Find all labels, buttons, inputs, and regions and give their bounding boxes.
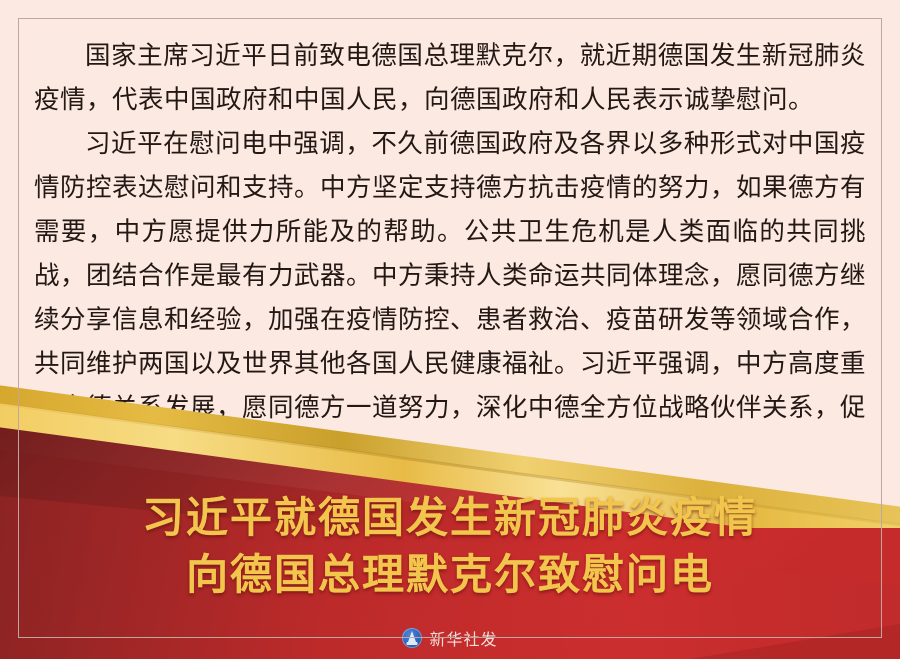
article-paragraph-1: 国家主席习近平日前致电德国总理默克尔，就近期德国发生新冠肺炎疫情，代表中国政府和… xyxy=(34,34,866,122)
article-region: 国家主席习近平日前致电德国总理默克尔，就近期德国发生新冠肺炎疫情，代表中国政府和… xyxy=(0,0,900,400)
xinhua-agency-logo-icon xyxy=(402,628,422,648)
credit-block: 新华社发 xyxy=(0,626,900,650)
headline-line-2: 向德国总理默克尔致慰问电 xyxy=(0,546,900,603)
headline-line-1: 习近平就德国发生新冠肺炎疫情 xyxy=(0,489,900,546)
news-poster: 国家主席习近平日前致电德国总理默克尔，就近期德国发生新冠肺炎疫情，代表中国政府和… xyxy=(0,0,900,659)
credit-text: 新华社发 xyxy=(429,626,497,650)
headline: 习近平就德国发生新冠肺炎疫情 向德国总理默克尔致慰问电 xyxy=(0,489,900,603)
